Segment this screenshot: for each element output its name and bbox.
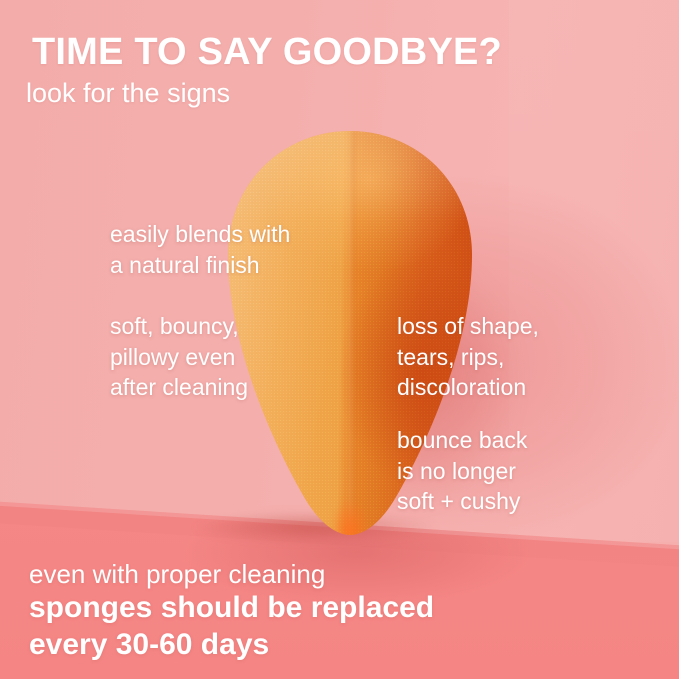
infographic-canvas: TIME TO SAY GOODBYE? look for the signs …	[0, 0, 679, 679]
sponge-center-crease	[348, 131, 355, 535]
callout-bad-bounce: bounce back is no longer soft + cushy	[397, 425, 527, 517]
page-title: TIME TO SAY GOODBYE?	[32, 33, 502, 71]
footer-intro-text: even with proper cleaning	[29, 561, 325, 587]
page-subtitle: look for the signs	[26, 80, 230, 107]
callout-good-texture: soft, bouncy, pillowy even after cleanin…	[110, 311, 248, 403]
footer-emphasis-text: sponges should be replaced every 30-60 d…	[29, 590, 434, 664]
callout-bad-shape: loss of shape, tears, rips, discoloratio…	[397, 311, 539, 403]
sponge-tip-glow	[330, 497, 369, 537]
callout-good-blending: easily blends with a natural finish	[110, 219, 290, 280]
